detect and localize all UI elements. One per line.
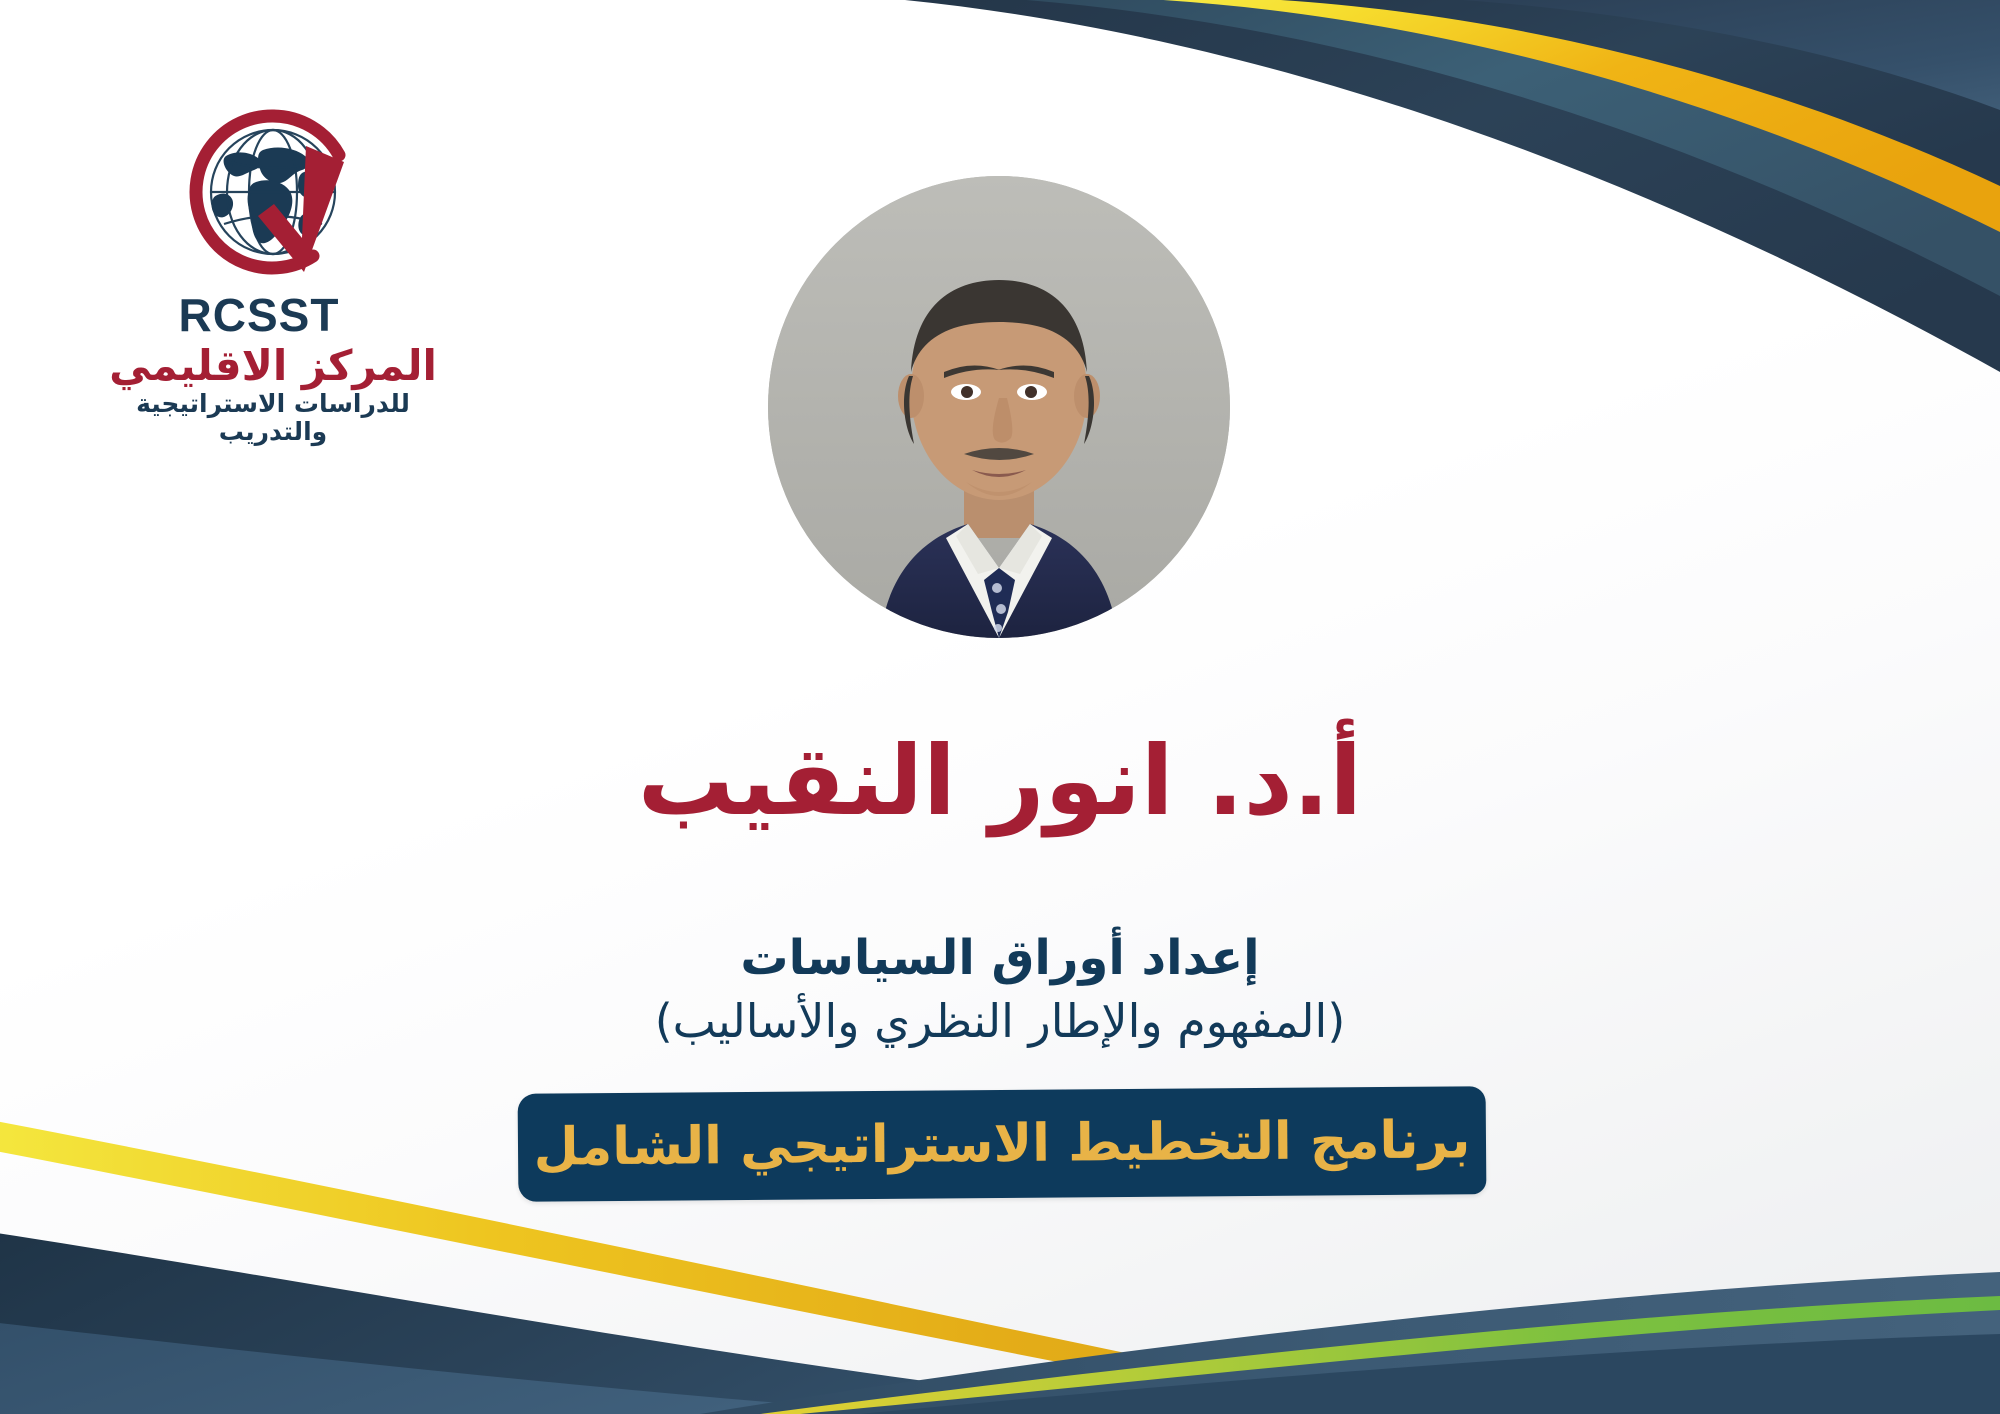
logo-arabic-secondary: للدراسات الاستراتيجية والتدريب bbox=[108, 390, 438, 445]
speaker-name: أ.د. انور النقيب bbox=[0, 728, 2000, 836]
globe-checkmark-icon bbox=[108, 98, 438, 298]
topic-subtitle: (المفهوم والإطار النظري والأساليب) bbox=[0, 994, 2000, 1049]
topic-title: إعداد أوراق السياسات bbox=[0, 930, 2000, 988]
logo-acronym: RCSST bbox=[94, 292, 424, 338]
program-banner: برنامج التخطيط الاستراتيجي الشامل bbox=[518, 1090, 1486, 1198]
speaker-portrait bbox=[768, 176, 1230, 638]
program-banner-label: برنامج التخطيط الاستراتيجي الشامل bbox=[518, 1086, 1487, 1202]
organization-logo: RCSST المركز الاقليمي للدراسات الاستراتي… bbox=[108, 98, 438, 445]
logo-arabic-primary: المركز الاقليمي bbox=[108, 344, 438, 388]
poster-canvas: RCSST المركز الاقليمي للدراسات الاستراتي… bbox=[0, 0, 2000, 1414]
